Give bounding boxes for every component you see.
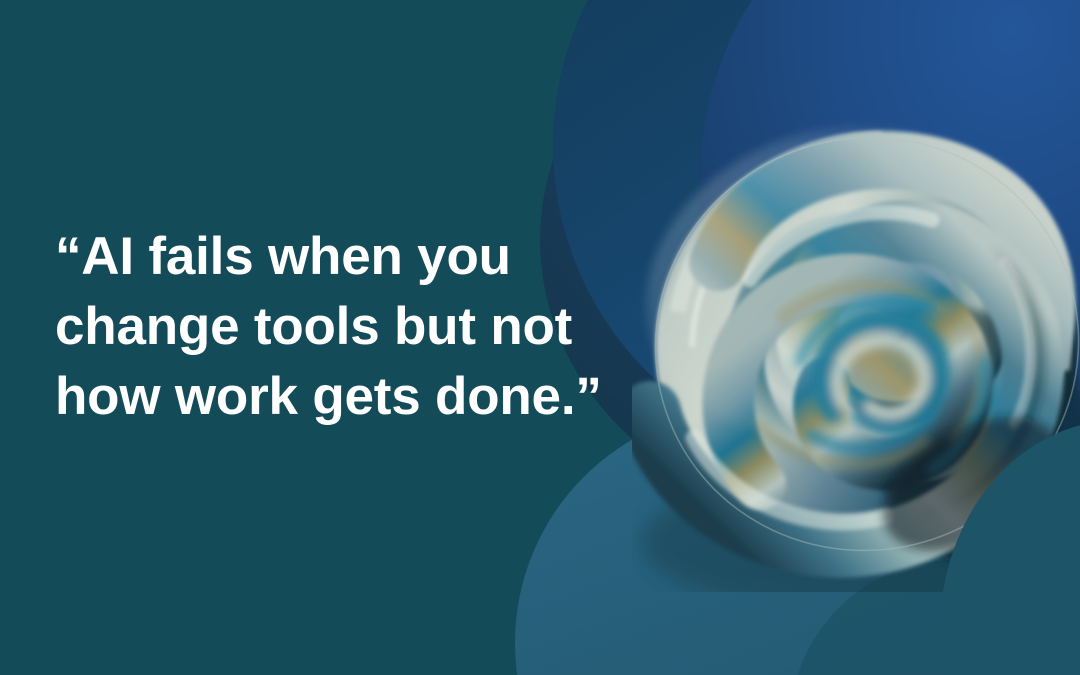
- quote-line-1: “AI fails when you: [55, 222, 635, 292]
- quote-block: “AI fails when you change tools but not …: [55, 222, 635, 432]
- quote-line-3: how work gets done.”: [55, 362, 635, 432]
- quote-line-2: change tools but not: [55, 292, 635, 362]
- quote-card: “AI fails when you change tools but not …: [0, 0, 1080, 675]
